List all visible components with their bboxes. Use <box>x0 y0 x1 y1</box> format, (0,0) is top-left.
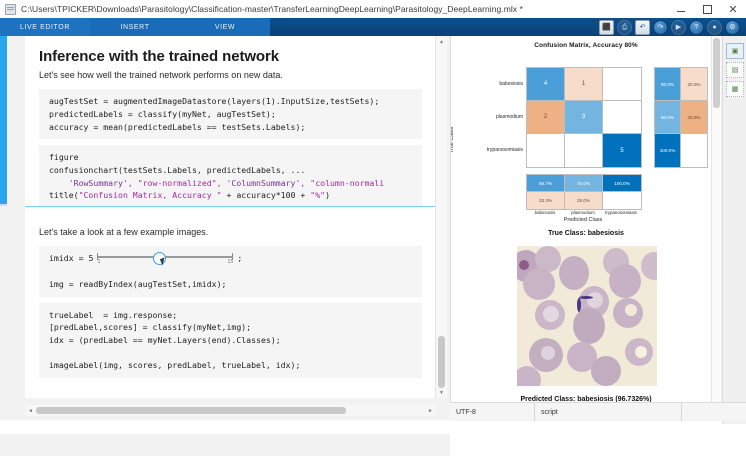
code-arg-rowsummary: 'RowSummary' <box>49 178 128 188</box>
col-summary-c2-incorrect: 25.0% <box>565 192 603 209</box>
stop-icon[interactable]: ● <box>707 20 722 35</box>
col-label-plasmodium: plasmodium <box>564 210 602 215</box>
save-icon[interactable]: ⬛ <box>599 20 614 35</box>
scroll-left-arrow-icon[interactable]: ◄ <box>25 405 36 416</box>
cm-cell-r3c3: 5 <box>603 134 641 167</box>
live-script-page[interactable]: Inference with the trained network Let's… <box>25 36 436 398</box>
tab-view[interactable]: VIEW <box>180 18 270 36</box>
row-summary-r2-correct: 60.0% <box>655 101 681 134</box>
true-class-title: True Class: babesiosis <box>451 224 721 237</box>
slider-var-label: imidx = <box>49 252 88 265</box>
window-title: C:\Users\TPICKER\Downloads\Parasitology\… <box>21 4 668 14</box>
code-arg-columnnormalized: , "column-normali <box>300 178 384 188</box>
document-body: Inference with the trained network Let's… <box>25 36 436 208</box>
page-title: Inference with the trained network <box>39 48 422 65</box>
document-body-2: Let's take a look at a few example image… <box>25 214 436 378</box>
cm-cell-r3c2 <box>565 134 603 167</box>
column-tick-labels: babesiosis plasmodium trypanosomiasis <box>526 210 640 215</box>
col-label-trypanosomiasis: trypanosomiasis <box>602 210 640 215</box>
code-title-call: title( <box>49 190 79 200</box>
output-vertical-scrollbar[interactable] <box>711 36 721 420</box>
title-bar: C:\Users\TPICKER\Downloads\Parasitology\… <box>0 0 746 19</box>
cm-cell-r1c1: 4 <box>527 68 565 101</box>
column-summary-grid: 66.7% 75.0% 100.0% 33.3% 25.0% <box>526 174 642 210</box>
ribbon-spacer <box>270 18 599 36</box>
scroll-down-arrow-icon[interactable]: ▼ <box>436 387 447 398</box>
code-title-string: "Confusion Matrix, Accuracy " <box>79 190 222 200</box>
redo-icon[interactable]: ↷ <box>653 20 668 35</box>
settings-icon[interactable]: ⚙ <box>725 20 740 35</box>
status-filetype: script <box>535 403 682 421</box>
mouse-cursor-icon <box>160 258 167 266</box>
output-vscroll-thumb[interactable] <box>713 38 720 108</box>
confusion-matrix-plot: True Class babesiosis plasmodium trypano… <box>451 49 721 224</box>
cm-cell-r2c1: 2 <box>527 101 565 134</box>
help-icon[interactable]: ? <box>689 20 704 35</box>
slider-terminator: ; <box>237 252 242 265</box>
row-label-trypanosomiasis: trypanosomiasis <box>465 133 523 166</box>
ribbon-tabs: LIVE EDITOR INSERT VIEW <box>0 18 270 36</box>
imidx-slider[interactable]: 115 <box>97 252 233 265</box>
cm-cell-r2c3 <box>603 101 641 134</box>
slider-value: 5 <box>88 252 93 265</box>
editor-vertical-scrollbar[interactable]: ▲ ▼ <box>435 36 447 398</box>
scroll-right-arrow-icon[interactable]: ► <box>425 405 436 416</box>
row-summary-grid: 80.0% 20.0% 60.0% 40.0% 100.0% <box>654 67 708 168</box>
col-summary-c1-incorrect: 33.3% <box>527 192 565 209</box>
code-block-4[interactable]: trueLabel = img.response; [predLabel,sco… <box>39 303 422 379</box>
close-button[interactable]: ✕ <box>720 0 746 18</box>
row-summary-r3-incorrect <box>681 134 707 167</box>
undo-icon[interactable]: ↶ <box>635 20 650 35</box>
col-summary-c1-correct: 66.7% <box>527 175 565 192</box>
document-icon <box>5 4 16 15</box>
col-summary-c3-correct: 100.0% <box>603 175 641 192</box>
code-title-percent: "%" <box>310 190 325 200</box>
blood-smear-image <box>517 246 657 386</box>
confusion-matrix-figure: Confusion Matrix, Accuracy 80% True Clas… <box>451 36 721 224</box>
matlab-live-editor-window: C:\Users\TPICKER\Downloads\Parasitology\… <box>0 0 746 420</box>
examples-paragraph: Let's take a look at a few example image… <box>39 226 422 238</box>
live-editor-pane: Inference with the trained network Let's… <box>7 36 447 420</box>
code-block-3[interactable]: imidx = 5115; img = readByIndex(augTestS… <box>39 246 422 296</box>
code-line-figure: figure <box>49 152 79 162</box>
editor-vscroll-thumb[interactable] <box>438 336 445 388</box>
slider-max-label: 15 <box>227 259 233 267</box>
row-summary-r3-correct: 100.0% <box>655 134 681 167</box>
code-arg-columnsummary: 'ColumnSummary' <box>226 178 300 188</box>
outputs-panel-icon[interactable]: ▦ <box>726 81 744 97</box>
active-section-marker[interactable] <box>0 36 7 204</box>
x-axis-label: Predicted Class <box>526 217 640 223</box>
col-summary-c3-incorrect <box>603 192 641 209</box>
row-summary-r2-incorrect: 40.0% <box>681 101 707 134</box>
scroll-up-arrow-icon[interactable]: ▲ <box>436 36 447 47</box>
sample-image-figure: True Class: babesiosis <box>451 224 721 420</box>
cm-cell-r2c2: 3 <box>565 101 603 134</box>
row-label-babesiosis: babesiosis <box>465 67 523 100</box>
code-block-2[interactable]: figure confusionchart(testSets.Labels, p… <box>39 145 422 208</box>
workspace: Inference with the trained network Let's… <box>0 36 746 420</box>
status-encoding: UTF-8 <box>450 403 535 421</box>
tab-live-editor[interactable]: LIVE EDITOR <box>0 18 90 36</box>
col-summary-c2-correct: 75.0% <box>565 175 603 192</box>
confusion-matrix-title: Confusion Matrix, Accuracy 80% <box>451 36 721 49</box>
code-line-readbyindex: img = readByIndex(augTestSet,imidx); <box>49 279 226 289</box>
editor-bottom-filler <box>0 434 450 456</box>
section-divider <box>25 206 436 207</box>
tab-insert[interactable]: INSERT <box>90 18 180 36</box>
slider-min-label: 1 <box>97 259 100 267</box>
editor-hscroll-thumb[interactable] <box>36 407 346 414</box>
run-icon[interactable]: ▶ <box>671 20 686 35</box>
cm-cell-r1c2: 1 <box>565 68 603 101</box>
maximize-button[interactable] <box>694 0 720 18</box>
section-marker-secondary <box>0 204 7 206</box>
editor-horizontal-scrollbar[interactable]: ◄ ► <box>25 405 436 416</box>
variables-panel-icon[interactable]: ▤ <box>726 62 744 78</box>
status-extra <box>682 403 746 421</box>
minimize-button[interactable] <box>668 0 694 18</box>
status-bar: UTF-8 script <box>450 402 746 421</box>
confusion-matrix-grid: 4 1 2 3 5 <box>526 67 642 168</box>
code-block-1[interactable]: augTestSet = augmentedImageDatastore(lay… <box>39 89 422 139</box>
print-icon[interactable]: ⎙ <box>617 20 632 35</box>
right-tool-strip: ▣ ▤ ▦ <box>722 36 746 424</box>
row-label-plasmodium: plasmodium <box>465 100 523 133</box>
code-title-expr: + accuracy*100 + <box>222 190 311 200</box>
row-summary-r1-incorrect: 20.0% <box>681 68 707 101</box>
ribbon-quick-tools: ⬛ ⎙ ↶ ↷ ▶ ? ● ⚙ <box>599 18 746 36</box>
y-axis-label: True Class <box>450 127 455 153</box>
code-line-confusionchart: confusionchart(testSets.Labels, predicte… <box>49 165 305 175</box>
row-tick-labels: babesiosis plasmodium trypanosomiasis <box>465 67 523 166</box>
ribbon-bar: LIVE EDITOR INSERT VIEW ⬛ ⎙ ↶ ↷ ▶ ? ● ⚙ <box>0 18 746 36</box>
col-label-babesiosis: babesiosis <box>526 210 564 215</box>
window-controls: ✕ <box>668 0 746 18</box>
figures-panel-icon[interactable]: ▣ <box>726 43 744 59</box>
intro-paragraph: Let's see how well the trained network p… <box>39 69 422 81</box>
cm-cell-r1c3 <box>603 68 641 101</box>
row-summary-r1-correct: 80.0% <box>655 68 681 101</box>
code-arg-rownormalized: , "row-normalized", <box>128 178 227 188</box>
output-pane: Confusion Matrix, Accuracy 80% True Clas… <box>450 36 721 420</box>
code-title-close: ) <box>325 190 330 200</box>
cm-cell-r3c1 <box>527 134 565 167</box>
